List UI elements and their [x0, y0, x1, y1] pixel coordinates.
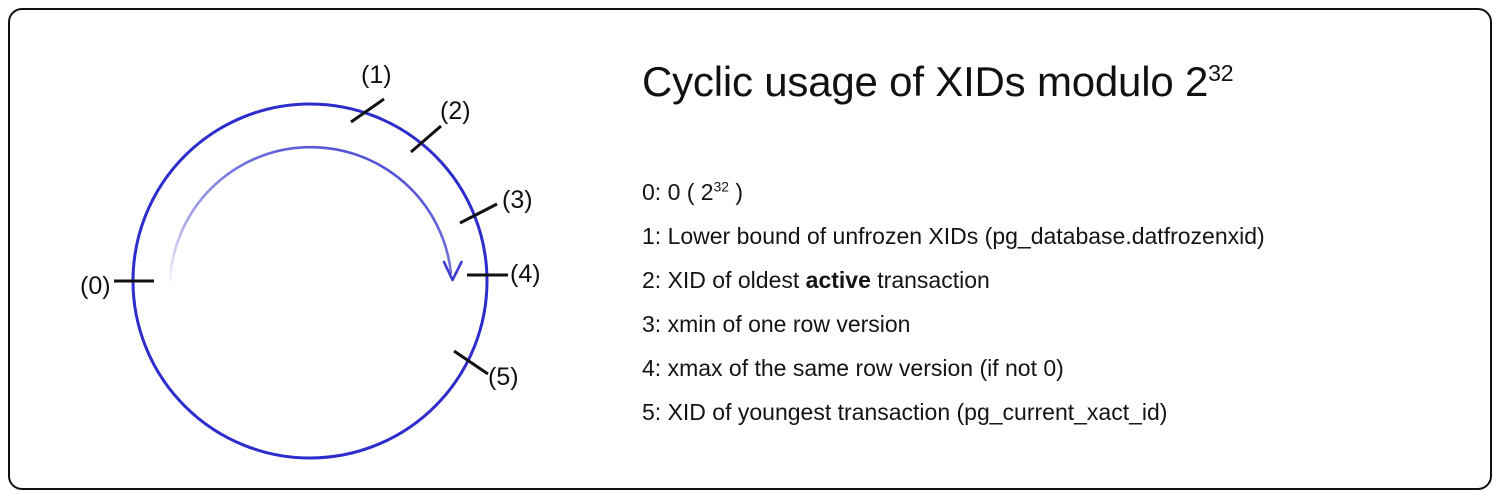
tick-label-5: (5) — [488, 365, 519, 390]
legend-text-5: XID of youngest transaction (pg_current_… — [661, 399, 1167, 425]
legend-item-4: 4: xmax of the same row version (if not … — [642, 346, 1488, 390]
legend-index-4: 4: — [642, 355, 661, 381]
legend-text-3: xmin of one row version — [661, 311, 910, 337]
tick-label-1: (1) — [361, 63, 392, 88]
legend-text-4: xmax of the same row version (if not 0) — [661, 355, 1064, 381]
legend-item-3: 3: xmin of one row version — [642, 302, 1488, 346]
legend-index-1: 1: — [642, 223, 661, 249]
tick-mark-3 — [460, 204, 497, 223]
legend-text-0: 0 ( 2 — [661, 179, 713, 205]
legend-item-1: 1: Lower bound of unfrozen XIDs (pg_data… — [642, 214, 1488, 258]
legend-text-2: XID of oldest — [661, 267, 805, 293]
legend-text-after-2: transaction — [871, 267, 990, 293]
legend-item-5: 5: XID of youngest transaction (pg_curre… — [642, 390, 1488, 434]
page-title: Cyclic usage of XIDs modulo 232 — [642, 58, 1233, 106]
tick-label-4: (4) — [510, 262, 541, 287]
legend-emphasis-2: active — [806, 267, 871, 293]
legend-index-0: 0: — [642, 179, 661, 205]
tick-label-2: (2) — [440, 99, 471, 124]
xid-cycle-diagram: (0) (1) (2) (3) (4) (5) — [10, 10, 610, 492]
page-title-text: Cyclic usage of XIDs modulo 2 — [642, 58, 1208, 105]
xid-cycle-svg — [10, 10, 610, 492]
tick-label-0: (0) — [80, 274, 111, 299]
tick-label-3: (3) — [502, 188, 533, 213]
legend-item-0: 0: 0 ( 232 ) — [642, 170, 1488, 214]
legend-index-2: 2: — [642, 267, 661, 293]
legend-text-1: Lower bound of unfrozen XIDs (pg_databas… — [661, 223, 1265, 249]
tick-marks — [114, 99, 508, 374]
legend-exponent-0: 32 — [714, 179, 729, 194]
legend-text-after-0: ) — [729, 179, 743, 205]
direction-arrowhead-icon — [444, 262, 462, 280]
legend-index-3: 3: — [642, 311, 661, 337]
explanation-column: Cyclic usage of XIDs modulo 232 0: 0 ( 2… — [642, 10, 1488, 492]
legend-index-5: 5: — [642, 399, 661, 425]
direction-arrow-arc — [170, 147, 451, 281]
legend-list: 0: 0 ( 232 ) 1: Lower bound of unfrozen … — [642, 170, 1488, 434]
page-title-exponent: 32 — [1208, 60, 1233, 86]
cycle-circle — [133, 104, 487, 458]
diagram-card: (0) (1) (2) (3) (4) (5) Cyclic usage of … — [8, 8, 1492, 490]
legend-item-2: 2: XID of oldest active transaction — [642, 258, 1488, 302]
